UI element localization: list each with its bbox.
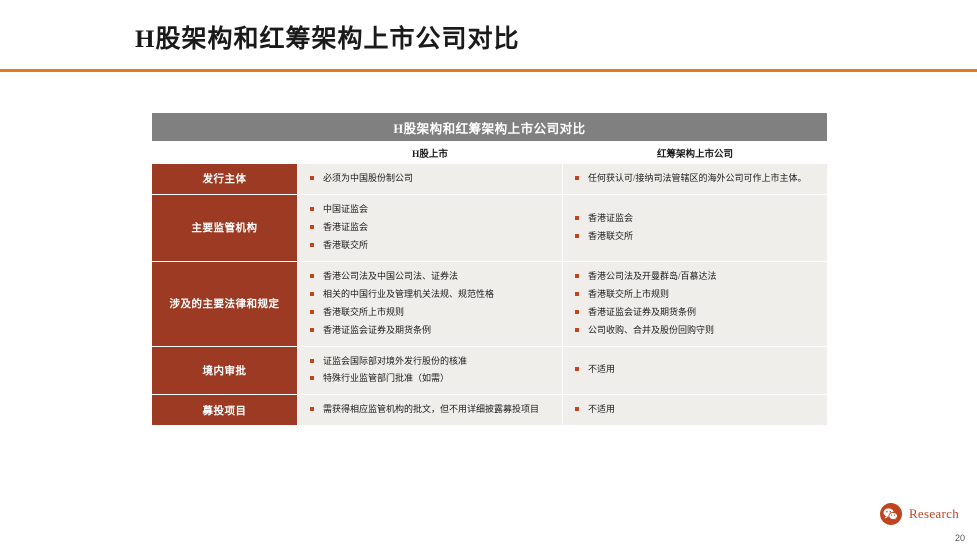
slide-root: H股架构和红筹架构上市公司对比 H股架构和红筹架构上市公司对比 H股上市 红筹架…	[0, 0, 977, 549]
table-row: 涉及的主要法律和规定 香港公司法及中国公司法、证券法 相关的中国行业及管理机关法…	[152, 261, 828, 346]
table-caption: H股架构和红筹架构上市公司对比	[152, 113, 828, 142]
column-header-red-chip: 红筹架构上市公司	[563, 142, 828, 164]
row-label-domestic-approval: 境内审批	[152, 346, 298, 395]
title-underline-rule	[0, 69, 977, 72]
cell-domestic-approval-h-share: 证监会国际部对境外发行股份的核准 特殊行业监管部门批准（如需）	[298, 346, 563, 395]
table-header-row: H股上市 红筹架构上市公司	[152, 142, 828, 164]
comparison-table: H股架构和红筹架构上市公司对比 H股上市 红筹架构上市公司 发行主体 必须为中国…	[151, 112, 828, 426]
page-number: 20	[955, 533, 965, 543]
cell-laws-h-share: 香港公司法及中国公司法、证券法 相关的中国行业及管理机关法规、规范性格 香港联交…	[298, 261, 563, 346]
bullet-list: 香港证监会 香港联交所	[575, 212, 817, 244]
bullet-list: 必须为中国股份制公司	[310, 172, 552, 186]
list-item: 香港证监会	[310, 221, 552, 235]
list-item: 公司收购、合并及股份回购守则	[575, 324, 817, 338]
column-header-blank	[152, 142, 298, 164]
page-title: H股架构和红筹架构上市公司对比	[135, 19, 519, 55]
bullet-list: 证监会国际部对境外发行股份的核准 特殊行业监管部门批准（如需）	[310, 355, 552, 387]
list-item: 香港联交所上市规则	[575, 288, 817, 302]
bullet-list: 香港公司法及开曼群岛/百慕达法 香港联交所上市规则 香港证监会证券及期货条例 公…	[575, 270, 817, 338]
list-item: 香港公司法及中国公司法、证券法	[310, 270, 552, 284]
cell-issuer-red-chip: 任何获认可/接纳司法管辖区的海外公司可作上市主体。	[563, 164, 828, 195]
bullet-list: 需获得相应监管机构的批文，但不用详细披露募投项目	[310, 403, 552, 417]
list-item: 必须为中国股份制公司	[310, 172, 552, 186]
list-item: 特殊行业监管部门批准（如需）	[310, 372, 552, 386]
bullet-list: 中国证监会 香港证监会 香港联交所	[310, 203, 552, 253]
cell-issuer-h-share: 必须为中国股份制公司	[298, 164, 563, 195]
column-header-h-share: H股上市	[298, 142, 563, 164]
list-item: 香港联交所	[310, 239, 552, 253]
row-label-issuer: 发行主体	[152, 164, 298, 195]
list-item: 不适用	[575, 363, 817, 377]
wechat-label: Research	[909, 506, 959, 522]
cell-regulators-red-chip: 香港证监会 香港联交所	[563, 194, 828, 261]
list-item: 需获得相应监管机构的批文，但不用详细披露募投项目	[310, 403, 552, 417]
row-label-laws: 涉及的主要法律和规定	[152, 261, 298, 346]
table-row: 境内审批 证监会国际部对境外发行股份的核准 特殊行业监管部门批准（如需） 不适用	[152, 346, 828, 395]
row-label-use-of-proceeds: 募投项目	[152, 395, 298, 426]
list-item: 相关的中国行业及管理机关法规、规范性格	[310, 288, 552, 302]
list-item: 任何获认可/接纳司法管辖区的海外公司可作上市主体。	[575, 172, 817, 186]
list-item: 香港联交所上市规则	[310, 306, 552, 320]
row-label-regulators: 主要监管机构	[152, 194, 298, 261]
list-item: 中国证监会	[310, 203, 552, 217]
cell-use-of-proceeds-red-chip: 不适用	[563, 395, 828, 426]
list-item: 证监会国际部对境外发行股份的核准	[310, 355, 552, 369]
table-row: 发行主体 必须为中国股份制公司 任何获认可/接纳司法管辖区的海外公司可作上市主体…	[152, 164, 828, 195]
bullet-list: 香港公司法及中国公司法、证券法 相关的中国行业及管理机关法规、规范性格 香港联交…	[310, 270, 552, 338]
cell-use-of-proceeds-h-share: 需获得相应监管机构的批文，但不用详细披露募投项目	[298, 395, 563, 426]
cell-laws-red-chip: 香港公司法及开曼群岛/百慕达法 香港联交所上市规则 香港证监会证券及期货条例 公…	[563, 261, 828, 346]
wechat-icon	[880, 503, 902, 525]
table-caption-row: H股架构和红筹架构上市公司对比	[152, 113, 828, 142]
bullet-list: 不适用	[575, 363, 817, 377]
wechat-watermark: Research	[880, 503, 959, 525]
list-item: 香港公司法及开曼群岛/百慕达法	[575, 270, 817, 284]
table-row: 募投项目 需获得相应监管机构的批文，但不用详细披露募投项目 不适用	[152, 395, 828, 426]
cell-regulators-h-share: 中国证监会 香港证监会 香港联交所	[298, 194, 563, 261]
table-row: 主要监管机构 中国证监会 香港证监会 香港联交所 香港证监会 香港联交所	[152, 194, 828, 261]
list-item: 香港证监会证券及期货条例	[310, 324, 552, 338]
cell-domestic-approval-red-chip: 不适用	[563, 346, 828, 395]
list-item: 香港证监会证券及期货条例	[575, 306, 817, 320]
list-item: 香港联交所	[575, 230, 817, 244]
slide-title-area: H股架构和红筹架构上市公司对比	[0, 0, 977, 72]
list-item: 香港证监会	[575, 212, 817, 226]
bullet-list: 不适用	[575, 403, 817, 417]
list-item: 不适用	[575, 403, 817, 417]
bullet-list: 任何获认可/接纳司法管辖区的海外公司可作上市主体。	[575, 172, 817, 186]
